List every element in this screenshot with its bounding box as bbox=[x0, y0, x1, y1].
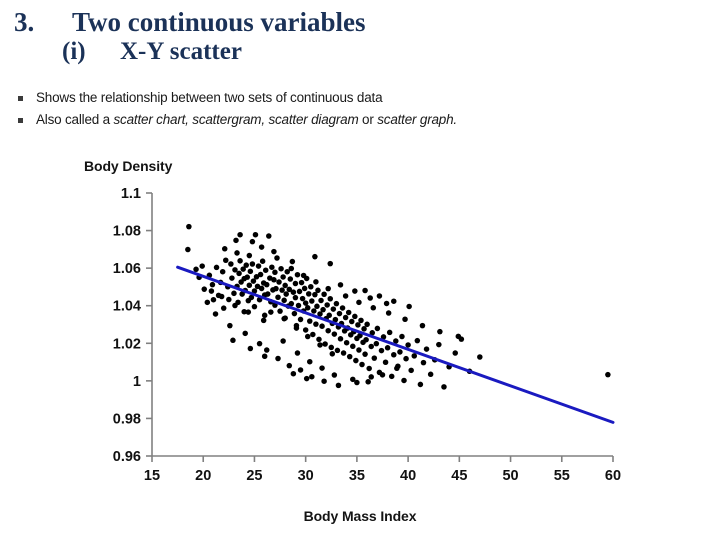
scatter-point bbox=[366, 366, 372, 372]
scatter-point bbox=[368, 374, 374, 380]
square-bullet-icon bbox=[18, 88, 36, 108]
scatter-point bbox=[335, 348, 341, 354]
scatter-point bbox=[271, 249, 277, 255]
scatter-point bbox=[303, 300, 309, 306]
scatter-point bbox=[318, 298, 324, 304]
scatter-point bbox=[313, 321, 319, 327]
scatter-point bbox=[299, 280, 305, 286]
scatter-point bbox=[452, 350, 458, 356]
scatter-point bbox=[327, 296, 333, 302]
scatter-point bbox=[209, 288, 215, 294]
scatter-point bbox=[363, 337, 369, 343]
scatter-point bbox=[262, 353, 268, 359]
scatter-point bbox=[343, 293, 349, 299]
x-axis-tick-label: 25 bbox=[246, 468, 262, 484]
scatter-point bbox=[223, 257, 229, 263]
scatter-point bbox=[402, 316, 408, 322]
scatter-point bbox=[325, 328, 331, 334]
scatter-point bbox=[232, 303, 238, 309]
scatter-point bbox=[246, 309, 252, 315]
scatter-point bbox=[263, 267, 269, 273]
scatter-point bbox=[428, 372, 434, 378]
scatter-point bbox=[294, 325, 300, 331]
scatter-point bbox=[311, 308, 317, 314]
scatter-point bbox=[436, 342, 442, 348]
scatter-point bbox=[298, 367, 304, 373]
scatter-point bbox=[259, 286, 265, 292]
scatter-point bbox=[317, 342, 323, 348]
scatter-point bbox=[264, 282, 270, 288]
list-item: Shows the relationship between two sets … bbox=[18, 88, 708, 108]
scatter-point bbox=[220, 269, 226, 275]
scatter-point bbox=[362, 351, 368, 357]
scatter-point bbox=[310, 332, 316, 338]
y-axis-tick-label: 0.96 bbox=[113, 449, 141, 465]
scatter-point bbox=[306, 291, 312, 297]
scatter-point bbox=[261, 318, 267, 324]
scatter-point bbox=[362, 288, 368, 294]
scatter-point bbox=[219, 294, 225, 300]
y-axis-tick-label: 1.1 bbox=[121, 186, 141, 202]
scatter-point bbox=[291, 289, 297, 295]
scatter-point bbox=[307, 318, 313, 324]
scatter-point bbox=[301, 273, 307, 279]
scatter-point bbox=[210, 282, 216, 288]
y-axis-tick-label: 0.98 bbox=[113, 411, 141, 427]
scatter-point bbox=[226, 297, 232, 303]
scatter-point bbox=[296, 303, 302, 309]
scatter-point bbox=[384, 301, 390, 307]
scatter-point bbox=[321, 378, 327, 384]
scatter-point bbox=[233, 238, 239, 244]
scatter-point bbox=[389, 374, 395, 380]
scatter-point bbox=[383, 360, 389, 366]
scatter-point bbox=[321, 292, 327, 298]
scatter-point bbox=[283, 291, 289, 297]
heading-sub-number: (i) bbox=[62, 39, 120, 66]
scatter-point bbox=[199, 263, 205, 269]
scatter-point bbox=[324, 302, 330, 308]
scatter-point bbox=[247, 253, 253, 259]
scatter-point bbox=[408, 368, 414, 374]
scatter-point bbox=[374, 341, 380, 347]
scatter-point bbox=[391, 298, 397, 304]
scatter-point bbox=[253, 232, 259, 238]
scatter-point bbox=[424, 346, 430, 352]
scatter-point bbox=[256, 263, 262, 269]
scatter-point bbox=[421, 360, 427, 366]
y-axis-tick-label: 1.04 bbox=[113, 299, 141, 315]
scatter-point bbox=[266, 233, 272, 239]
scatter-point bbox=[295, 272, 301, 278]
scatter-point bbox=[205, 300, 211, 306]
heading-line-secondary: (i) X-Y scatter bbox=[14, 39, 704, 66]
slide-heading: 3. Two continuous variables (i) X-Y scat… bbox=[14, 8, 704, 65]
scatter-point bbox=[347, 354, 353, 360]
scatter-point bbox=[368, 344, 374, 350]
scatter-point bbox=[605, 372, 611, 378]
scatter-point bbox=[228, 261, 234, 267]
scatter-point bbox=[242, 331, 248, 337]
list-item-label: Shows the relationship between two sets … bbox=[36, 88, 382, 108]
scatter-point bbox=[350, 344, 356, 350]
scatter-point bbox=[269, 264, 275, 270]
x-axis-tick-label: 50 bbox=[502, 468, 518, 484]
scatter-point bbox=[257, 341, 263, 347]
scatter-point bbox=[230, 338, 236, 344]
scatter-point bbox=[412, 353, 418, 359]
scatter-point bbox=[293, 295, 299, 301]
bullet-list: Shows the relationship between two sets … bbox=[18, 88, 708, 133]
scatter-point bbox=[279, 287, 285, 293]
scatter-point bbox=[288, 276, 294, 282]
scatter-point bbox=[271, 277, 277, 283]
scatter-point bbox=[297, 289, 303, 295]
scatter-point bbox=[303, 327, 309, 333]
x-axis-tick-label: 40 bbox=[400, 468, 416, 484]
scatter-point bbox=[331, 306, 337, 312]
scatter-point bbox=[397, 349, 403, 355]
scatter-point bbox=[477, 354, 483, 360]
x-axis-tick-label: 30 bbox=[298, 468, 314, 484]
scatter-point bbox=[314, 304, 320, 310]
heading-line-primary: 3. Two continuous variables bbox=[14, 8, 704, 37]
scatter-point bbox=[420, 323, 426, 329]
scatter-point bbox=[441, 384, 447, 390]
scatter-point bbox=[268, 309, 274, 315]
scatter-point bbox=[231, 291, 237, 297]
square-bullet-icon bbox=[18, 110, 36, 130]
scatter-point bbox=[354, 380, 360, 386]
scatter-point bbox=[380, 372, 386, 378]
scatter-point bbox=[273, 286, 279, 292]
scatter-point bbox=[375, 326, 381, 332]
x-axis-tick-label: 15 bbox=[144, 468, 160, 484]
scatter-point bbox=[343, 315, 349, 321]
scatter-point bbox=[293, 281, 299, 287]
scatter-point bbox=[287, 363, 293, 369]
scatter-point bbox=[277, 308, 283, 314]
scatter-point bbox=[281, 298, 287, 304]
scatter-point bbox=[346, 310, 352, 316]
scatter-point bbox=[338, 336, 344, 342]
y-axis-tick-label: 1.02 bbox=[113, 336, 141, 352]
scatter-point bbox=[358, 318, 364, 324]
scatter-point bbox=[379, 348, 385, 354]
scatter-point bbox=[250, 239, 256, 245]
scatter-point bbox=[340, 305, 346, 311]
scatter-point bbox=[332, 372, 338, 378]
scatter-point bbox=[245, 274, 251, 280]
scatter-point bbox=[394, 366, 400, 372]
y-axis-tick-label: 1.06 bbox=[113, 261, 141, 277]
scatter-point bbox=[265, 291, 271, 297]
scatter-point bbox=[337, 311, 343, 317]
scatter-point bbox=[352, 314, 358, 320]
scatter-point bbox=[330, 351, 336, 357]
scatter-point bbox=[302, 286, 308, 292]
scatter-point bbox=[276, 279, 282, 285]
scatter-point bbox=[313, 279, 319, 285]
scatter-point bbox=[234, 250, 240, 256]
scatter-point bbox=[243, 262, 249, 268]
scatter-point bbox=[307, 359, 313, 365]
scatter-point bbox=[312, 254, 318, 260]
scatter-point bbox=[386, 310, 392, 316]
scatter-point bbox=[338, 282, 344, 288]
scatter-point bbox=[387, 330, 393, 336]
scatter-point bbox=[399, 334, 405, 340]
scatter-point bbox=[377, 293, 383, 299]
scatter-point bbox=[315, 288, 321, 294]
scatter-point bbox=[322, 341, 328, 347]
scatter-point bbox=[371, 305, 377, 311]
scatter-point bbox=[364, 322, 370, 328]
scatter-point bbox=[292, 311, 298, 317]
scatter-point bbox=[332, 331, 338, 337]
scatter-point bbox=[214, 265, 220, 271]
scatter-point bbox=[356, 300, 362, 306]
scatter-point bbox=[290, 259, 296, 265]
scatter-point bbox=[227, 323, 233, 329]
scatter-point bbox=[327, 261, 333, 267]
scatter-point bbox=[280, 338, 286, 344]
chart-canvas: 0.960.9811.021.041.061.081.1152025303540… bbox=[0, 148, 720, 508]
scatter-point bbox=[247, 282, 253, 288]
scatter-point bbox=[262, 313, 268, 319]
scatter-point bbox=[237, 258, 243, 264]
scatter-point bbox=[278, 266, 284, 272]
scatter-point bbox=[201, 286, 207, 292]
x-axis-tick-label: 35 bbox=[349, 468, 365, 484]
scatter-point bbox=[361, 326, 367, 332]
scatter-point bbox=[275, 295, 281, 301]
scatter-chart: Body Density 0.960.9811.021.041.061.081.… bbox=[0, 148, 720, 540]
scatter-point bbox=[319, 323, 325, 329]
scatter-point bbox=[372, 355, 378, 361]
scatter-point bbox=[316, 337, 322, 343]
scatter-point bbox=[405, 342, 411, 348]
scatter-point bbox=[326, 313, 332, 319]
list-item: Also called a scatter chart, scattergram… bbox=[18, 110, 708, 130]
scatter-point bbox=[320, 307, 326, 313]
scatter-point bbox=[456, 334, 462, 340]
scatter-point bbox=[415, 338, 421, 344]
scatter-point bbox=[309, 298, 315, 304]
scatter-point bbox=[264, 347, 270, 353]
scatter-point bbox=[356, 347, 362, 353]
y-axis-tick-label: 1 bbox=[133, 374, 141, 390]
scatter-point bbox=[305, 305, 311, 311]
scatter-point bbox=[236, 271, 242, 277]
scatter-point bbox=[211, 297, 217, 303]
scatter-point bbox=[391, 352, 397, 358]
scatter-point bbox=[259, 244, 265, 250]
scatter-point bbox=[250, 261, 256, 267]
scatter-point bbox=[355, 322, 361, 328]
scatter-point bbox=[280, 274, 286, 280]
scatter-point bbox=[344, 340, 350, 346]
scatter-point bbox=[385, 345, 391, 351]
scatter-point bbox=[341, 350, 347, 356]
scatter-point bbox=[275, 356, 281, 362]
scatter-point bbox=[252, 304, 258, 310]
scatter-point bbox=[221, 305, 227, 311]
scatter-point bbox=[260, 258, 266, 264]
scatter-point bbox=[289, 266, 295, 272]
scatter-point bbox=[325, 286, 331, 292]
scatter-point bbox=[437, 329, 443, 335]
scatter-point bbox=[291, 371, 297, 377]
scatter-point bbox=[304, 376, 310, 382]
trend-line bbox=[178, 267, 613, 422]
scatter-point bbox=[336, 383, 342, 389]
scatter-point bbox=[186, 224, 192, 230]
scatter-point bbox=[274, 255, 280, 261]
scatter-point bbox=[352, 288, 358, 294]
page-subtitle: X-Y scatter bbox=[120, 39, 242, 66]
scatter-point bbox=[193, 267, 199, 273]
scatter-point bbox=[329, 345, 335, 351]
scatter-point bbox=[403, 356, 409, 362]
heading-number: 3. bbox=[14, 8, 72, 37]
x-axis-tick-label: 60 bbox=[605, 468, 621, 484]
scatter-point bbox=[229, 275, 235, 281]
scatter-point bbox=[248, 269, 254, 275]
scatter-point bbox=[418, 382, 424, 388]
scatter-point bbox=[298, 317, 304, 323]
scatter-point bbox=[258, 272, 264, 278]
scatter-point bbox=[300, 296, 306, 302]
scatter-point bbox=[305, 334, 311, 340]
scatter-point bbox=[406, 304, 412, 310]
page-title: Two continuous variables bbox=[72, 8, 366, 37]
scatter-point bbox=[359, 362, 365, 368]
scatter-point bbox=[349, 319, 355, 325]
scatter-point bbox=[401, 378, 407, 384]
scatter-point bbox=[281, 316, 287, 322]
scatter-point bbox=[237, 232, 243, 238]
scatter-point bbox=[185, 247, 191, 253]
scatter-point bbox=[319, 365, 325, 371]
chart-x-axis-title: Body Mass Index bbox=[0, 508, 720, 524]
scatter-point bbox=[272, 270, 278, 276]
scatter-points bbox=[185, 224, 611, 390]
scatter-point bbox=[222, 246, 228, 252]
scatter-point bbox=[308, 284, 314, 290]
scatter-point bbox=[334, 301, 340, 307]
list-item-label: Also called a scatter chart, scattergram… bbox=[36, 110, 457, 130]
scatter-point bbox=[295, 350, 301, 356]
scatter-point bbox=[248, 346, 254, 352]
scatter-point bbox=[309, 374, 315, 380]
scatter-point bbox=[282, 283, 288, 289]
scatter-point bbox=[367, 295, 373, 301]
scatter-point bbox=[365, 379, 371, 385]
y-axis-tick-label: 1.08 bbox=[113, 224, 141, 240]
scatter-point bbox=[213, 311, 219, 317]
x-axis-tick-label: 20 bbox=[195, 468, 211, 484]
x-axis-tick-label: 45 bbox=[451, 468, 467, 484]
x-axis-tick-label: 55 bbox=[554, 468, 570, 484]
scatter-point bbox=[353, 358, 359, 364]
